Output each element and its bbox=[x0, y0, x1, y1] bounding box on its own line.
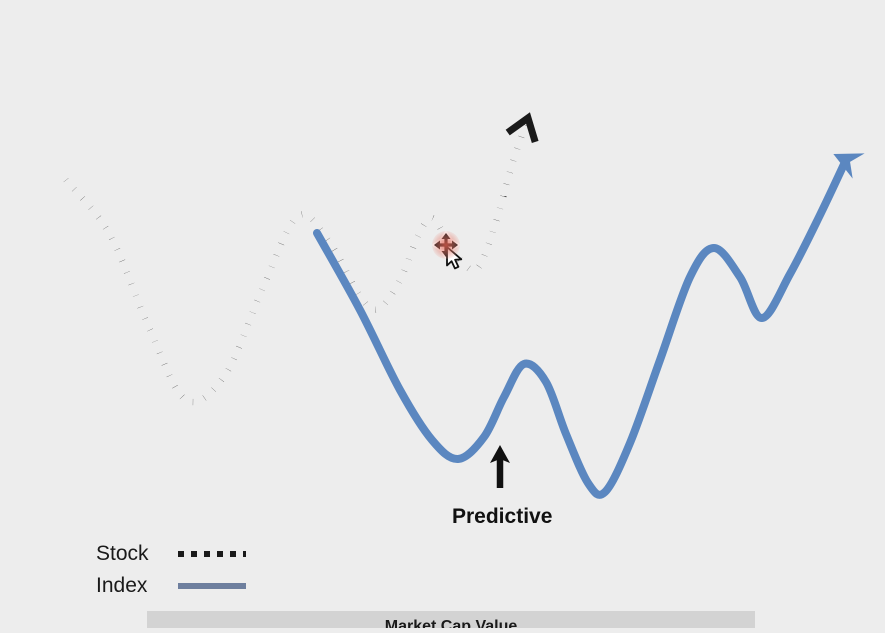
legend-item-index[interactable]: Index bbox=[96, 570, 296, 602]
series-index[interactable] bbox=[317, 160, 846, 495]
predictive-arrow-icon bbox=[490, 445, 510, 488]
stock-dotted-line[interactable] bbox=[66, 118, 528, 402]
legend-item-stock[interactable]: Stock bbox=[96, 538, 296, 570]
chart-legend: Stock Index bbox=[96, 538, 296, 602]
stock-arrowhead-icon bbox=[508, 118, 536, 142]
bottom-status-bar-text: Market Cap Value bbox=[147, 619, 755, 628]
legend-label-stock: Stock bbox=[96, 542, 168, 566]
legend-label-index: Index bbox=[96, 574, 168, 598]
chart-canvas: Predictive Stock Index Market Cap Value bbox=[0, 0, 885, 628]
chart-plot-area bbox=[0, 0, 885, 628]
series-stock[interactable] bbox=[66, 118, 535, 402]
legend-swatch-stock-dotted-line bbox=[178, 547, 246, 561]
legend-swatch-index-solid-line bbox=[178, 579, 246, 593]
bottom-status-bar[interactable]: Market Cap Value bbox=[147, 611, 755, 628]
index-solid-line[interactable] bbox=[317, 160, 846, 495]
predictive-annotation-label: Predictive bbox=[452, 505, 552, 529]
